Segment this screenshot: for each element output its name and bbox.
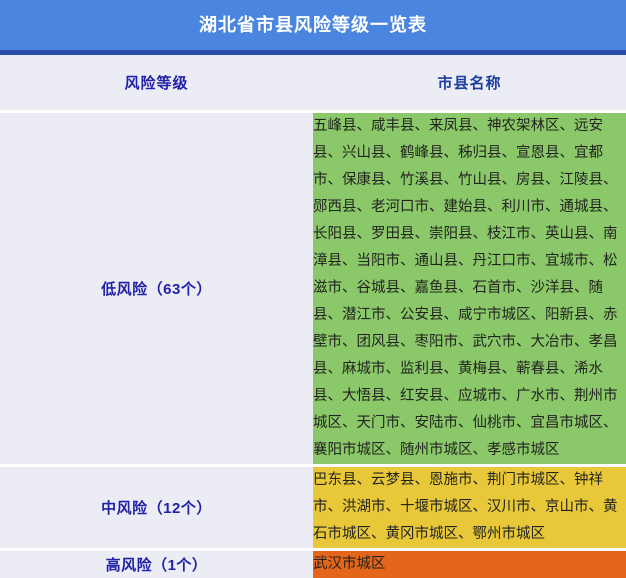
city-county-list-medium: 巴东县、云梦县、恩施市、荆门市城区、钟祥市、洪湖市、十堰市城区、汉川市、京山市、…: [313, 467, 626, 548]
page-title-banner: 湖北省市县风险等级一览表: [0, 0, 626, 50]
city-county-list-high: 武汉市城区: [313, 551, 626, 578]
risk-level-label-low: 低风险（63个）: [0, 113, 313, 464]
table-header-row: 风险等级 市县名称: [0, 55, 626, 110]
table-row: 中风险（12个） 巴东县、云梦县、恩施市、荆门市城区、钟祥市、洪湖市、十堰市城区…: [0, 467, 626, 548]
risk-level-label-high: 高风险（1个）: [0, 551, 313, 578]
risk-level-label-medium: 中风险（12个）: [0, 467, 313, 548]
column-header-risk-level: 风险等级: [0, 55, 313, 110]
table-row: 低风险（63个） 五峰县、咸丰县、来凤县、神农架林区、远安县、兴山县、鹤峰县、秭…: [0, 113, 626, 464]
page-title: 湖北省市县风险等级一览表: [199, 16, 427, 34]
column-header-city-county-name: 市县名称: [313, 55, 626, 110]
table-row: 高风险（1个） 武汉市城区: [0, 551, 626, 578]
city-county-list-low: 五峰县、咸丰县、来凤县、神农架林区、远安县、兴山县、鹤峰县、秭归县、宣恩县、宜都…: [313, 113, 626, 464]
risk-level-table-page: 湖北省市县风险等级一览表 风险等级 市县名称 低风险（63个） 五峰县、咸丰县、…: [0, 0, 626, 524]
risk-level-table: 风险等级 市县名称 低风险（63个） 五峰县、咸丰县、来凤县、神农架林区、远安县…: [0, 55, 626, 578]
